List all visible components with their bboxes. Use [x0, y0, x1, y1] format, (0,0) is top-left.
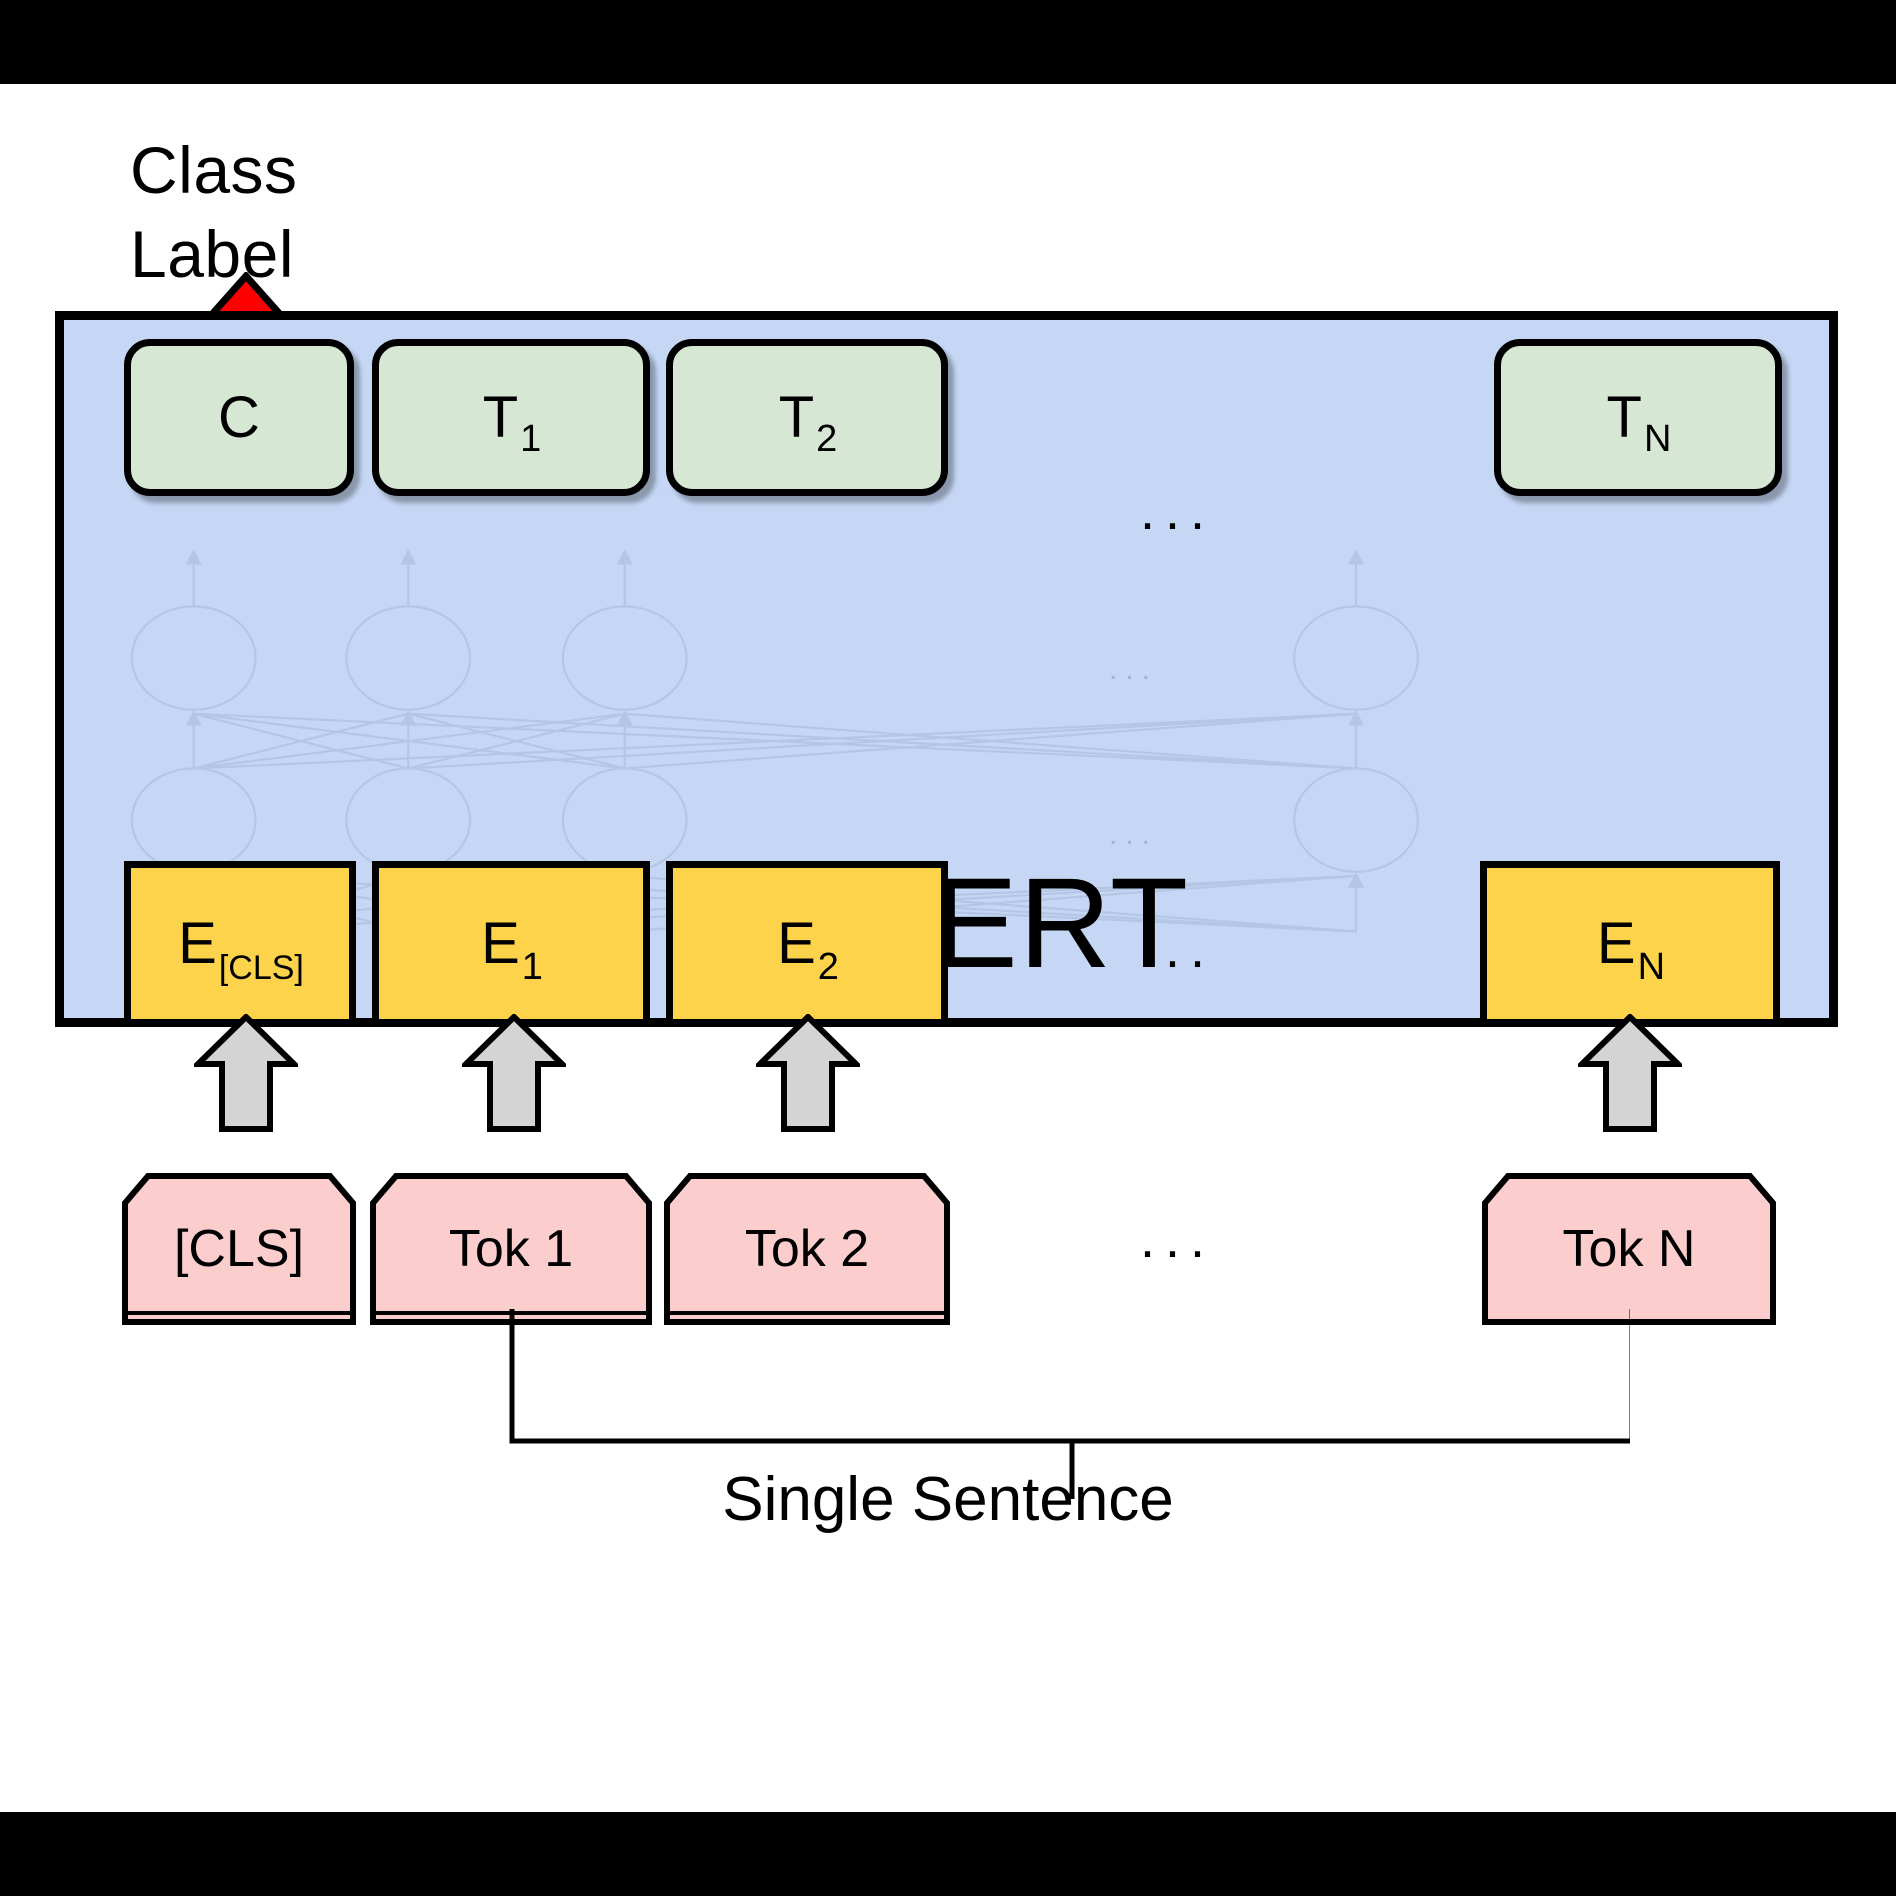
output-token-c[interactable]: C	[124, 339, 354, 496]
input-token-tok1[interactable]: Tok 1	[370, 1173, 652, 1325]
output-token-t1[interactable]: T1	[372, 339, 650, 496]
gray-up-arrow-icon-tokn	[1578, 1014, 1682, 1132]
output-token-t2[interactable]: T2	[666, 339, 948, 496]
network-ellipsis-lower: ...	[1109, 820, 1158, 850]
input-row-ellipsis: ...	[1140, 1212, 1215, 1266]
class-label-text: Class Label	[130, 128, 298, 296]
embedding-cls[interactable]: E[CLS]	[124, 861, 356, 1026]
sentence-caption: Single Sentence	[0, 1464, 1896, 1535]
output-token-t2-label: T2	[779, 389, 836, 447]
output-token-tn-label: TN	[1607, 389, 1670, 447]
embedding-cls-label: E[CLS]	[178, 915, 302, 973]
output-token-t1-label: T1	[483, 389, 540, 447]
output-token-tn[interactable]: TN	[1494, 339, 1782, 496]
embedding-e2-label: E2	[777, 915, 837, 973]
embedding-en-label: EN	[1597, 915, 1663, 973]
network-ellipsis-upper: ...	[1109, 655, 1158, 685]
output-row-ellipsis: ...	[1140, 484, 1215, 538]
gray-up-arrow-icon-tok2	[756, 1014, 860, 1132]
input-token-tok1-label: Tok 1	[370, 1173, 652, 1325]
input-token-cls-label: [CLS]	[122, 1173, 356, 1325]
input-token-cls[interactable]: [CLS]	[122, 1173, 356, 1325]
output-token-c-label: C	[218, 389, 260, 447]
embedding-e1-label: E1	[481, 915, 541, 973]
letterbox-top	[0, 0, 1896, 84]
gray-up-arrow-icon-tok1	[462, 1014, 566, 1132]
letterbox-bottom	[0, 1812, 1896, 1896]
input-token-tokn[interactable]: Tok N	[1482, 1173, 1776, 1325]
input-token-tok2[interactable]: Tok 2	[664, 1173, 950, 1325]
embedding-e2[interactable]: E2	[666, 861, 948, 1026]
embedding-en[interactable]: EN	[1480, 861, 1780, 1026]
gray-up-arrow-icon-cls	[194, 1014, 298, 1132]
diagram-canvas: Class Label	[0, 84, 1896, 1812]
input-token-tokn-label: Tok N	[1482, 1173, 1776, 1325]
embedding-row-ellipsis: ...	[1140, 922, 1215, 976]
input-token-tok2-label: Tok 2	[664, 1173, 950, 1325]
embedding-e1[interactable]: E1	[372, 861, 650, 1026]
